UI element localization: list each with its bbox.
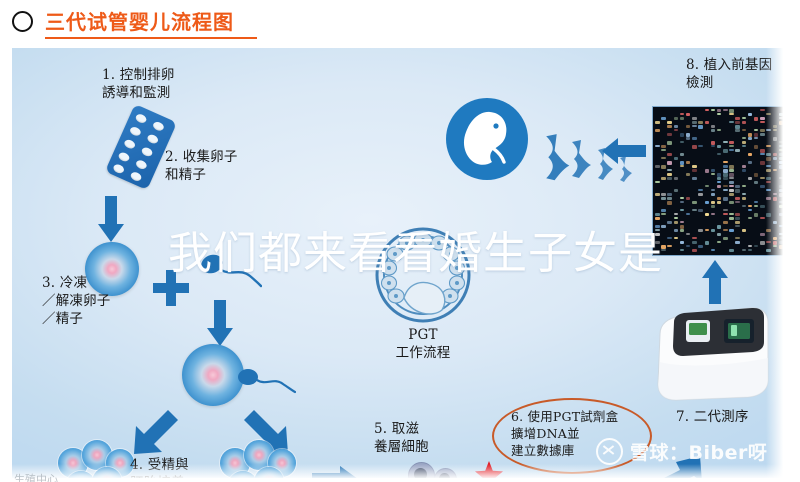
page-header: 三代试管婴儿流程图 [0,0,800,46]
chromosomes-icon [542,132,652,201]
title-underline [45,37,257,39]
step-1-label: 1. 控制排卵 誘導和監測 [102,66,175,102]
page-title: 三代试管婴儿流程图 [45,8,234,36]
step-5-label: 5. 取滋 養層細胞 [374,420,429,456]
arrow-step7-to-step8 [702,260,728,304]
overlay-caption: 我们都来看看婚生子女是 [168,228,663,280]
pgt-center-label-line2: 工作流程 [374,344,472,362]
step-3-label: 3. 冷凍 ／解凍卵子 ／精子 [42,274,111,328]
pgt-center-label-line1: PGT [374,326,472,344]
watermark-text: 雪球：Biber呀 [630,438,767,465]
sequencer-machine-icon [650,306,770,407]
footer-cut-text: 生殖中心 [14,471,58,482]
fertilized-egg-icon [182,344,244,406]
xueqiu-logo-icon [596,438,623,465]
step-2-label: 2. 收集卵子 和精子 [165,148,238,184]
arrow-step1-to-step3 [98,196,124,242]
sperm-entering-egg-icon [238,368,296,399]
fetus-icon [444,96,530,187]
step-7-label: 7. 二代測序 [676,408,749,426]
figure-right-fade [766,48,788,478]
arrow-step2-to-fertilization [207,300,233,346]
figure-bottom-fade [12,464,788,478]
step-8-label: 8. 植入前基因 檢測 [686,56,772,92]
watermark: 雪球：Biber呀 [596,438,767,465]
circle-outline-icon [12,11,33,32]
